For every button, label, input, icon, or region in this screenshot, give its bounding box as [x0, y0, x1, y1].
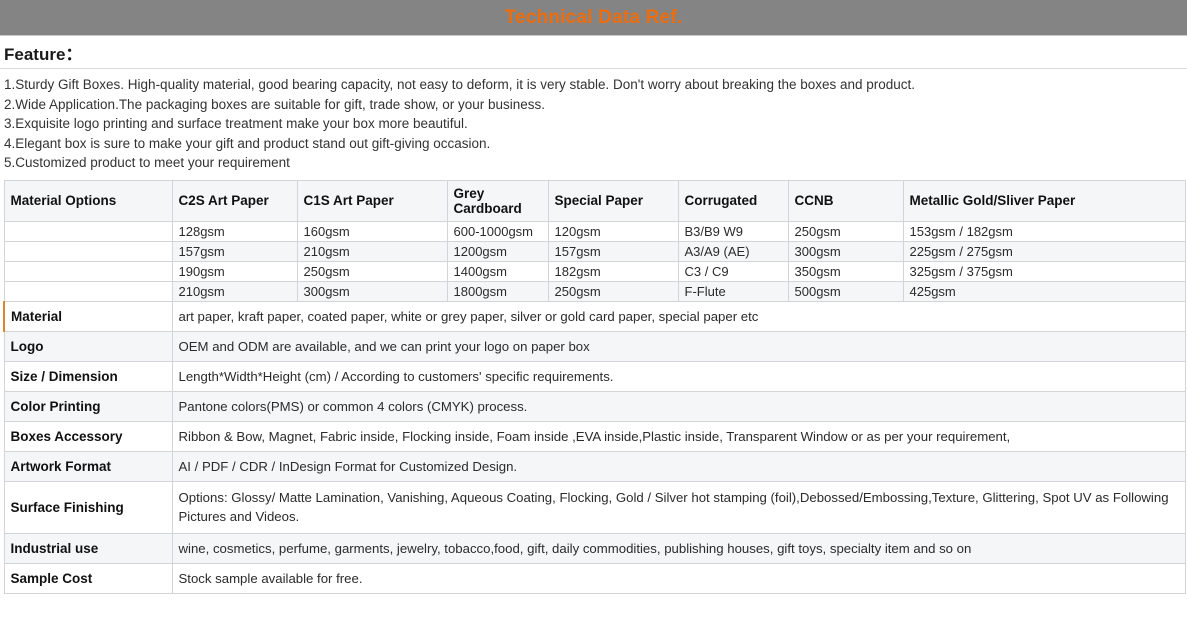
cell: 225gsm / 275gsm: [903, 241, 1185, 261]
row-value-color-printing: Pantone colors(PMS) or common 4 colors (…: [172, 391, 1185, 421]
column-header-special-paper: Special Paper: [548, 180, 678, 221]
row-value-artwork-format: AI / PDF / CDR / InDesign Format for Cus…: [172, 451, 1185, 481]
cell: 120gsm: [548, 221, 678, 241]
table-row-size-dimension: Size / Dimension Length*Width*Height (cm…: [4, 361, 1185, 391]
row-label-sample-cost: Sample Cost: [4, 563, 172, 593]
table-row-surface-finishing: Surface Finishing Options: Glossy/ Matte…: [4, 481, 1185, 533]
specification-table: Material Options C2S Art Paper C1S Art P…: [3, 180, 1186, 594]
feature-heading-row: Feature：: [0, 36, 1187, 69]
feature-line: 1.Sturdy Gift Boxes. High-quality materi…: [4, 75, 1183, 95]
column-header-c2s-art-paper: C2S Art Paper: [172, 180, 297, 221]
page-title: Technical Data Ref.: [505, 7, 683, 29]
cell: 250gsm: [297, 261, 447, 281]
table-row: 157gsm 210gsm 1200gsm 157gsm A3/A9 (AE) …: [4, 241, 1185, 261]
cell: 210gsm: [172, 281, 297, 301]
cell: 1200gsm: [447, 241, 548, 261]
table-row-material: Material art paper, kraft paper, coated …: [4, 301, 1185, 331]
column-header-corrugated: Corrugated: [678, 180, 788, 221]
row-value-logo: OEM and ODM are available, and we can pr…: [172, 331, 1185, 361]
cell: 210gsm: [297, 241, 447, 261]
cell: [4, 261, 172, 281]
table-row-sample-cost: Sample Cost Stock sample available for f…: [4, 563, 1185, 593]
table-row-industrial-use: Industrial use wine, cosmetics, perfume,…: [4, 533, 1185, 563]
row-label-artwork-format: Artwork Format: [4, 451, 172, 481]
table-header-row: Material Options C2S Art Paper C1S Art P…: [4, 180, 1185, 221]
feature-line: 5.Customized product to meet your requir…: [4, 153, 1183, 173]
table-row-color-printing: Color Printing Pantone colors(PMS) or co…: [4, 391, 1185, 421]
cell: 500gsm: [788, 281, 903, 301]
cell: 182gsm: [548, 261, 678, 281]
cell: 1800gsm: [447, 281, 548, 301]
column-header-c1s-art-paper: C1S Art Paper: [297, 180, 447, 221]
table-row-boxes-accessory: Boxes Accessory Ribbon & Bow, Magnet, Fa…: [4, 421, 1185, 451]
row-value-surface-finishing: Options: Glossy/ Matte Lamination, Vanis…: [172, 481, 1185, 533]
feature-line: 3.Exquisite logo printing and surface tr…: [4, 114, 1183, 134]
cell: [4, 221, 172, 241]
cell: 160gsm: [297, 221, 447, 241]
cell: 600-1000gsm: [447, 221, 548, 241]
row-label-boxes-accessory: Boxes Accessory: [4, 421, 172, 451]
cell: 157gsm: [172, 241, 297, 261]
feature-line: 4.Elegant box is sure to make your gift …: [4, 134, 1183, 154]
cell: 190gsm: [172, 261, 297, 281]
cell: F-Flute: [678, 281, 788, 301]
table-row: 210gsm 300gsm 1800gsm 250gsm F-Flute 500…: [4, 281, 1185, 301]
row-label-color-printing: Color Printing: [4, 391, 172, 421]
cell: 300gsm: [297, 281, 447, 301]
cell: 350gsm: [788, 261, 903, 281]
row-label-size-dimension: Size / Dimension: [4, 361, 172, 391]
cell: 153gsm / 182gsm: [903, 221, 1185, 241]
table-row-artwork-format: Artwork Format AI / PDF / CDR / InDesign…: [4, 451, 1185, 481]
column-header-material-options: Material Options: [4, 180, 172, 221]
row-label-surface-finishing: Surface Finishing: [4, 481, 172, 533]
cell: C3 / C9: [678, 261, 788, 281]
cell: [4, 241, 172, 261]
cell: 425gsm: [903, 281, 1185, 301]
cell: 325gsm / 375gsm: [903, 261, 1185, 281]
column-header-ccnb: CCNB: [788, 180, 903, 221]
row-value-size-dimension: Length*Width*Height (cm) / According to …: [172, 361, 1185, 391]
spec-table-container: Material Options C2S Art Paper C1S Art P…: [0, 180, 1187, 594]
cell: 128gsm: [172, 221, 297, 241]
column-header-grey-cardboard: Grey Cardboard: [447, 180, 548, 221]
table-row: 128gsm 160gsm 600-1000gsm 120gsm B3/B9 W…: [4, 221, 1185, 241]
cell: B3/B9 W9: [678, 221, 788, 241]
technical-data-page: Technical Data Ref. Feature： 1.Sturdy Gi…: [0, 0, 1187, 620]
cell: [4, 281, 172, 301]
feature-list: 1.Sturdy Gift Boxes. High-quality materi…: [0, 69, 1187, 180]
table-row-logo: Logo OEM and ODM are available, and we c…: [4, 331, 1185, 361]
row-value-material: art paper, kraft paper, coated paper, wh…: [172, 301, 1185, 331]
cell: 300gsm: [788, 241, 903, 261]
cell: A3/A9 (AE): [678, 241, 788, 261]
row-value-sample-cost: Stock sample available for free.: [172, 563, 1185, 593]
row-label-material: Material: [4, 301, 172, 331]
row-value-industrial-use: wine, cosmetics, perfume, garments, jewe…: [172, 533, 1185, 563]
feature-line: 2.Wide Application.The packaging boxes a…: [4, 95, 1183, 115]
feature-heading: Feature：: [4, 40, 82, 65]
table-row: 190gsm 250gsm 1400gsm 182gsm C3 / C9 350…: [4, 261, 1185, 281]
cell: 250gsm: [548, 281, 678, 301]
row-label-industrial-use: Industrial use: [4, 533, 172, 563]
cell: 250gsm: [788, 221, 903, 241]
cell: 1400gsm: [447, 261, 548, 281]
column-header-metallic-paper: Metallic Gold/Sliver Paper: [903, 180, 1185, 221]
cell: 157gsm: [548, 241, 678, 261]
row-label-logo: Logo: [4, 331, 172, 361]
row-value-boxes-accessory: Ribbon & Bow, Magnet, Fabric inside, Flo…: [172, 421, 1185, 451]
title-banner: Technical Data Ref.: [0, 0, 1187, 36]
